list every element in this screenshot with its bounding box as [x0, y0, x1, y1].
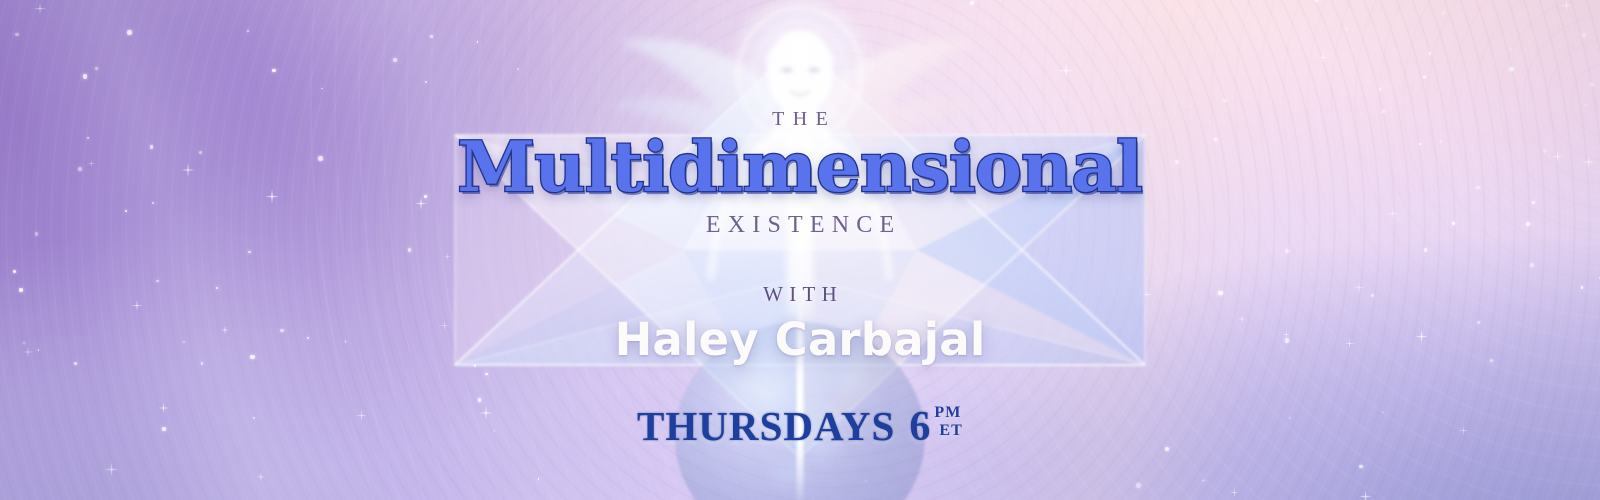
- eyebrow-with: WITH: [757, 282, 843, 307]
- schedule-day: THURSDAYS: [637, 406, 895, 447]
- host-name: Haley Carbajal: [615, 313, 986, 366]
- banner-content: THE Multidimensional EXISTENCE WITH Hale…: [0, 0, 1600, 500]
- promo-banner: THE Multidimensional EXISTENCE WITH Hale…: [0, 0, 1600, 500]
- schedule-meridiem-group: PM ET: [934, 404, 963, 440]
- schedule-meridiem: PM: [934, 404, 961, 421]
- page-title: Multidimensional: [458, 133, 1143, 202]
- schedule-line: THURSDAYS 6 PM ET: [637, 406, 963, 448]
- subtitle-existence: EXISTENCE: [699, 212, 902, 239]
- schedule-timezone: ET: [939, 422, 963, 439]
- schedule-hour: 6: [909, 406, 930, 448]
